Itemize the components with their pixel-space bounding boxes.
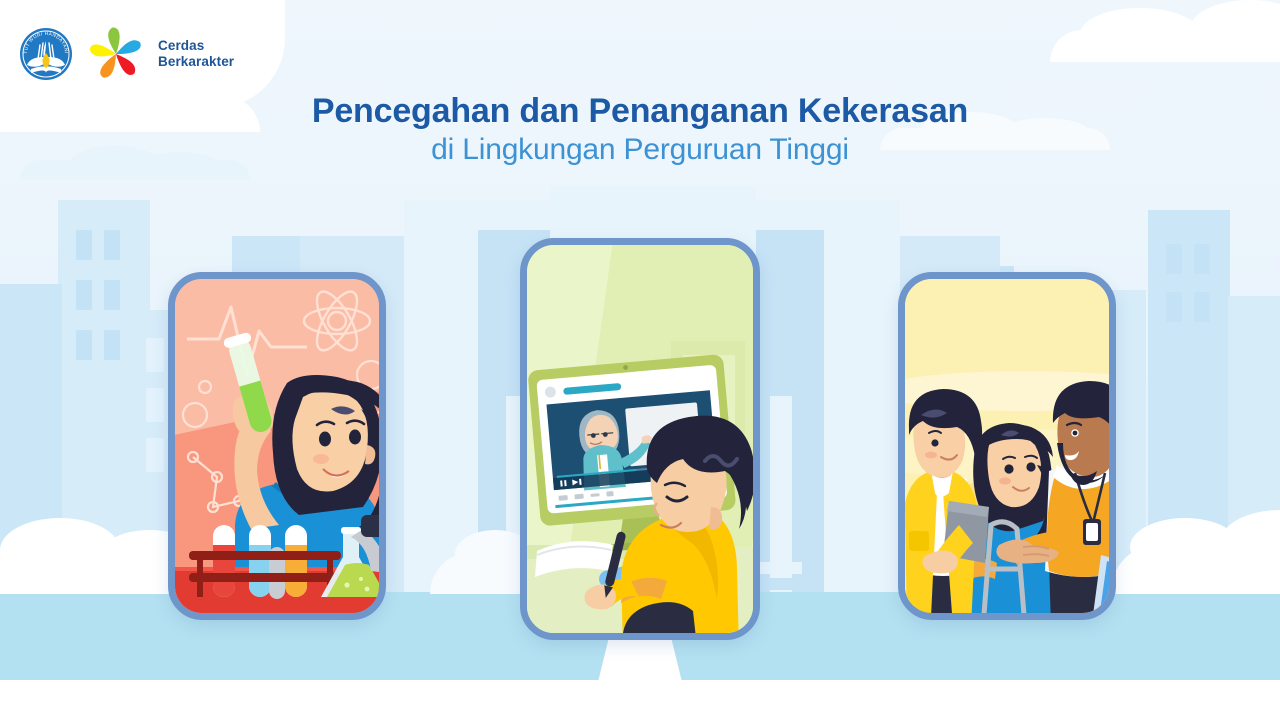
- laboratory-student-card[interactable]: [168, 272, 386, 620]
- slide-canvas: TUT WURI HANDAYANI Cerdas Berkar: [0, 0, 1280, 720]
- wordmark-line-1: Cerdas: [158, 38, 234, 54]
- lab-glassware: [175, 279, 379, 613]
- pedestal: [598, 634, 682, 682]
- students-group-figures: [905, 279, 1109, 613]
- cloud-shape: [1110, 544, 1280, 594]
- student-online-figure: [527, 245, 753, 633]
- wordmark-line-2: Berkarakter: [158, 54, 234, 70]
- page-subtitle: di Lingkungan Perguruan Tinggi: [0, 133, 1280, 167]
- kemendikbud-tut-wuri-handayani-logo: TUT WURI HANDAYANI: [18, 23, 74, 85]
- title-block: Pencegahan dan Penanganan Kekerasan di L…: [0, 92, 1280, 167]
- cloud-shape: [1050, 30, 1280, 62]
- bottom-white-band: [0, 680, 1280, 720]
- page-title: Pencegahan dan Penanganan Kekerasan: [0, 92, 1280, 131]
- online-learning-card[interactable]: [520, 238, 760, 640]
- inclusive-students-card[interactable]: [898, 272, 1116, 620]
- cerdas-berkarakter-wordmark: Cerdas Berkarakter: [158, 38, 234, 70]
- cerdas-berkarakter-logo: [88, 26, 144, 82]
